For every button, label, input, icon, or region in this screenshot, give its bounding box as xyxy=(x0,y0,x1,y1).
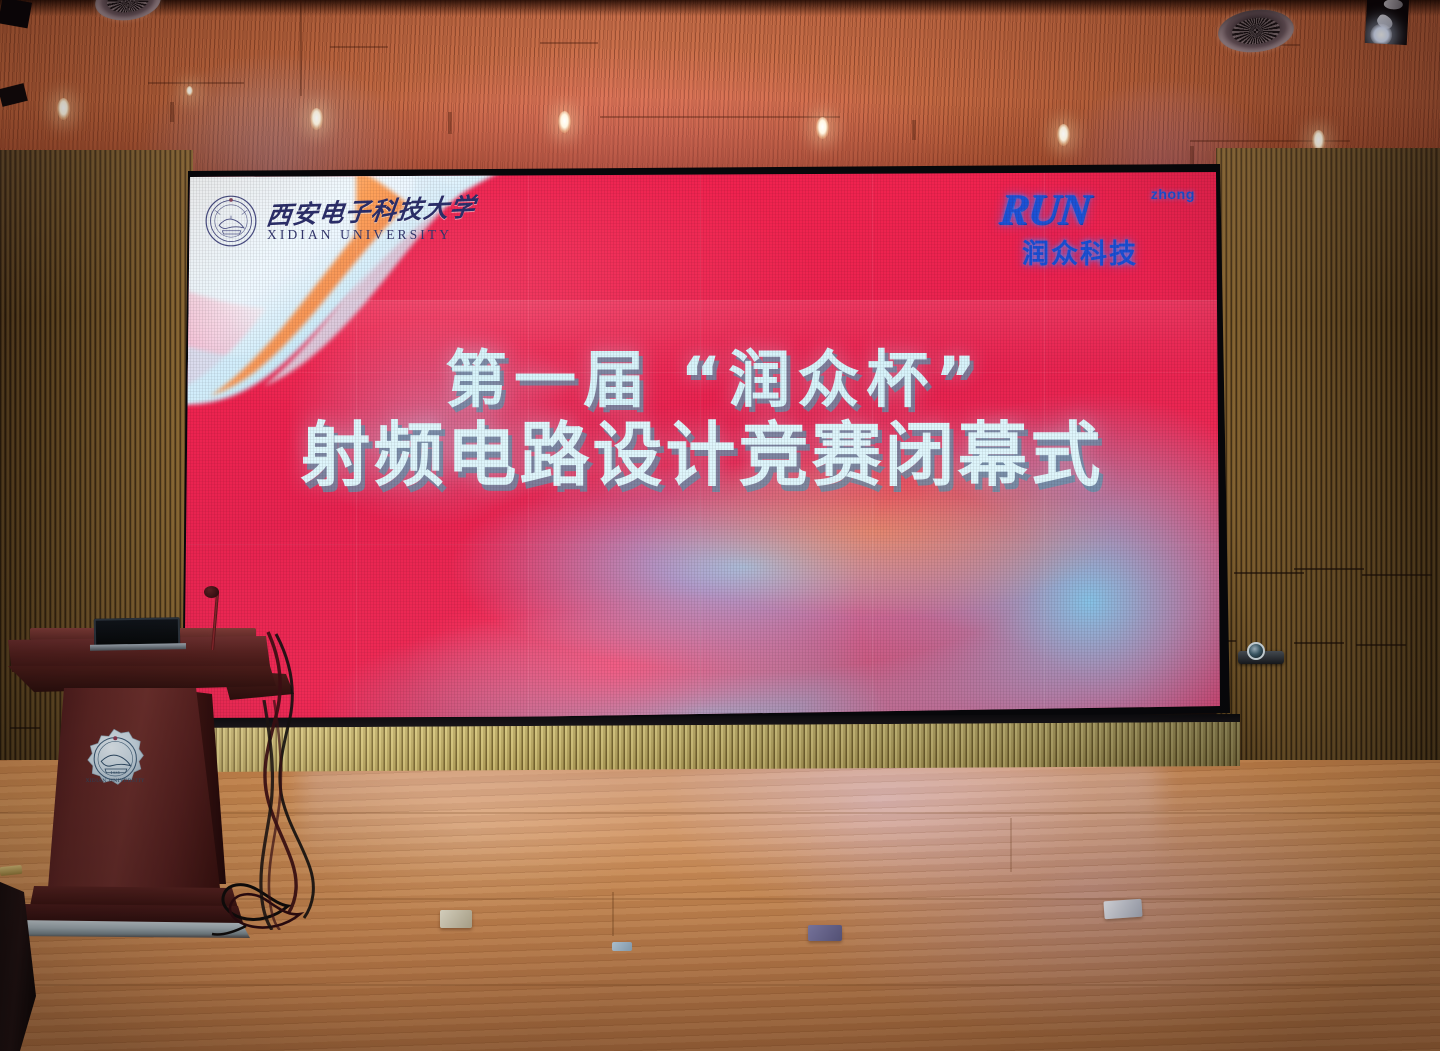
ceiling-corner-recess xyxy=(0,0,32,28)
stage-floor-cable xyxy=(250,700,450,930)
floor-joint xyxy=(1010,818,1012,872)
ceiling-spotlight-recess xyxy=(1365,0,1409,45)
spotlight-fixture xyxy=(1383,0,1403,10)
svg-text:1931: 1931 xyxy=(110,770,120,775)
ceiling-seam xyxy=(912,120,916,140)
svg-text:XIDIAN UNIVERSITY: XIDIAN UNIVERSITY xyxy=(86,778,145,784)
floor-socket-cover xyxy=(1103,899,1142,920)
wall-seam xyxy=(1294,642,1344,644)
ceiling-downlight xyxy=(310,108,323,130)
ceiling-seam xyxy=(300,0,302,96)
ceiling-downlight xyxy=(816,117,829,139)
wall-seam xyxy=(1234,572,1304,574)
camera-lens-icon xyxy=(1247,642,1265,660)
ceiling-seam xyxy=(330,46,388,48)
ceiling-downlight xyxy=(57,98,70,120)
ceiling-downlight xyxy=(1057,124,1070,146)
xidian-university-emblem: 1931 XIDIAN UNIVERSITY xyxy=(82,728,146,792)
wall-seam xyxy=(1294,568,1364,570)
ceiling-seam xyxy=(1190,140,1350,142)
floor-socket-cover xyxy=(808,925,842,941)
microphone-icon xyxy=(204,586,219,598)
wall-seam xyxy=(1356,644,1406,646)
ceiling-seam xyxy=(540,42,598,44)
wall-mounted-camera xyxy=(1238,642,1284,664)
ceiling-seam xyxy=(148,82,244,84)
wall-seam xyxy=(1362,574,1432,576)
ceiling-downlight xyxy=(186,86,193,96)
auditorium-photo: 西安电子科技大学 XIDIAN UNIVERSITY RUN zhong 润众科… xyxy=(0,0,1440,1051)
ceiling-seam xyxy=(1190,146,1194,164)
floor-socket-cover xyxy=(612,942,632,951)
ceiling-seam xyxy=(600,116,840,118)
ceiling-seam xyxy=(448,112,452,134)
confidence-monitor xyxy=(94,617,180,646)
floor-plank-edge xyxy=(0,984,1440,986)
floor-joint xyxy=(612,892,614,936)
ceiling-downlight xyxy=(558,111,571,133)
ceiling-seam xyxy=(170,102,174,122)
